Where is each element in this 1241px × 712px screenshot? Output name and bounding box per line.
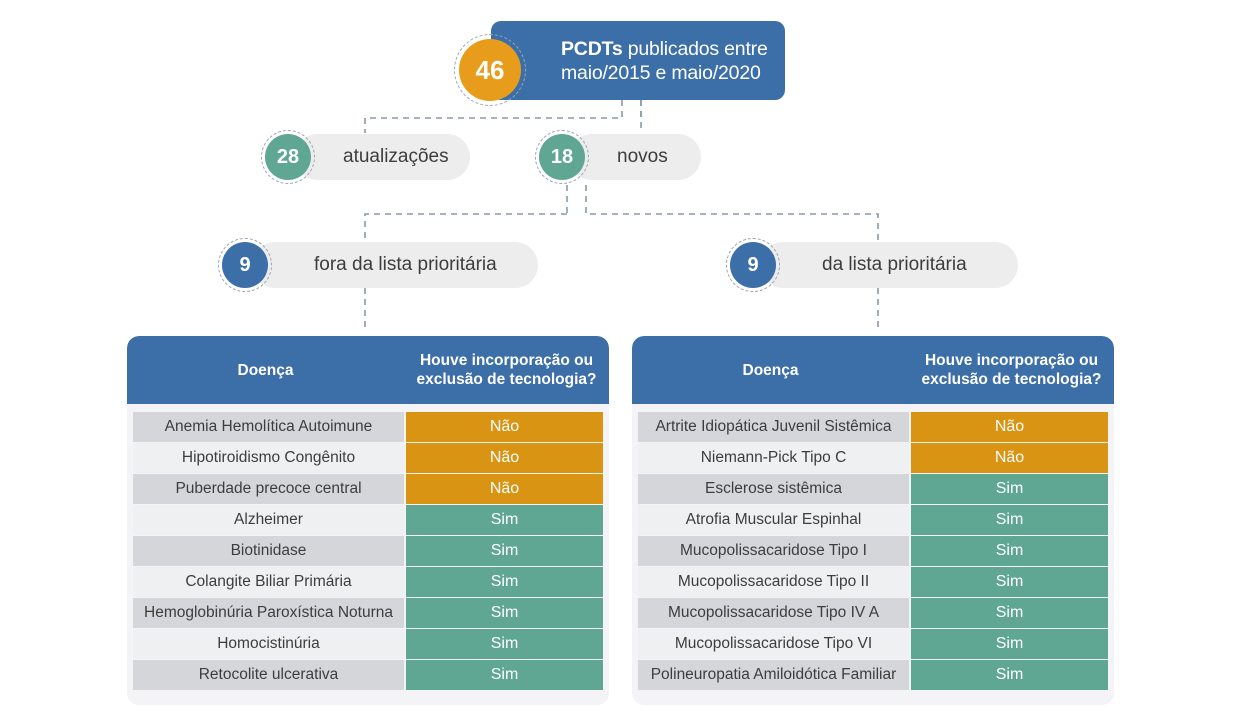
cell-disease: Biotinidase xyxy=(133,536,404,566)
table-right-body: Artrite Idiopática Juvenil SistêmicaNãoN… xyxy=(632,404,1114,690)
cell-disease: Mucopolissacaridose Tipo II xyxy=(638,567,909,597)
node-fora-lista-pill: fora da lista prioritária xyxy=(252,242,538,288)
node-novos-label: novos xyxy=(617,146,668,168)
cell-disease: Colangite Biliar Primária xyxy=(133,567,404,597)
cell-disease: Esclerose sistêmica xyxy=(638,474,909,504)
diagram-canvas: PCDTs publicados entre maio/2015 e maio/… xyxy=(0,0,1241,712)
cell-answer: Sim xyxy=(406,567,603,597)
cell-answer: Sim xyxy=(911,567,1108,597)
table-row: Esclerose sistêmicaSim xyxy=(638,474,1108,504)
cell-answer: Sim xyxy=(911,660,1108,690)
table-row: Retocolite ulcerativaSim xyxy=(133,660,603,690)
cell-answer: Não xyxy=(911,412,1108,442)
node-fora-lista-count: 9 xyxy=(222,242,268,288)
table-row: AlzheimerSim xyxy=(133,505,603,535)
cell-answer: Sim xyxy=(911,505,1108,535)
table-right-header-answer: Houve incorporação ou exclusão de tecnol… xyxy=(909,351,1114,389)
connector-novos-to-fora xyxy=(365,214,567,241)
node-da-lista-label: da lista prioritária xyxy=(822,254,967,276)
cell-answer: Sim xyxy=(406,660,603,690)
table-right-header-row: Doença Houve incorporação ou exclusão de… xyxy=(632,336,1114,404)
table-row: Niemann-Pick Tipo CNão xyxy=(638,443,1108,473)
table-da-lista-prioritaria: Doença Houve incorporação ou exclusão de… xyxy=(632,336,1114,705)
cell-answer: Sim xyxy=(406,505,603,535)
table-row: Hipotiroidismo CongênitoNão xyxy=(133,443,603,473)
table-row: Atrofia Muscular EspinhalSim xyxy=(638,505,1108,535)
root-box: PCDTs publicados entre maio/2015 e maio/… xyxy=(491,21,785,100)
table-row: Colangite Biliar PrimáriaSim xyxy=(133,567,603,597)
cell-answer: Não xyxy=(406,443,603,473)
table-row: Mucopolissacaridose Tipo IISim xyxy=(638,567,1108,597)
table-fora-lista-prioritaria: Doença Houve incorporação ou exclusão de… xyxy=(127,336,609,705)
cell-disease: Homocistinúria xyxy=(133,629,404,659)
cell-answer: Não xyxy=(406,412,603,442)
cell-disease: Niemann-Pick Tipo C xyxy=(638,443,909,473)
node-da-lista-count: 9 xyxy=(730,242,776,288)
cell-answer: Sim xyxy=(911,536,1108,566)
table-row: Puberdade precoce centralNão xyxy=(133,474,603,504)
cell-disease: Hemoglobinúria Paroxística Noturna xyxy=(133,598,404,628)
root-label: PCDTs publicados entre maio/2015 e maio/… xyxy=(561,37,768,85)
cell-disease: Atrofia Muscular Espinhal xyxy=(638,505,909,535)
cell-answer: Não xyxy=(911,443,1108,473)
table-row: Mucopolissacaridose Tipo IV ASim xyxy=(638,598,1108,628)
cell-disease: Mucopolissacaridose Tipo IV A xyxy=(638,598,909,628)
cell-answer: Sim xyxy=(406,536,603,566)
table-row: BiotinidaseSim xyxy=(133,536,603,566)
table-left-header-answer: Houve incorporação ou exclusão de tecnol… xyxy=(404,351,609,389)
table-left-body: Anemia Hemolítica AutoimuneNãoHipotiroid… xyxy=(127,404,609,690)
cell-disease: Puberdade precoce central xyxy=(133,474,404,504)
cell-disease: Retocolite ulcerativa xyxy=(133,660,404,690)
node-atualizacoes-count: 28 xyxy=(265,134,311,180)
cell-disease: Polineuropatia Amiloidótica Familiar xyxy=(638,660,909,690)
cell-disease: Alzheimer xyxy=(133,505,404,535)
root-count-badge: 46 xyxy=(459,39,521,101)
table-row: Mucopolissacaridose Tipo ISim xyxy=(638,536,1108,566)
table-row: Anemia Hemolítica AutoimuneNão xyxy=(133,412,603,442)
node-atualizacoes-label: atualizações xyxy=(343,146,449,168)
table-row: Artrite Idiopática Juvenil SistêmicaNão xyxy=(638,412,1108,442)
cell-answer: Sim xyxy=(911,629,1108,659)
node-atualizacoes-pill: atualizações xyxy=(295,134,470,180)
cell-disease: Mucopolissacaridose Tipo I xyxy=(638,536,909,566)
connector-novos-to-prioritaria xyxy=(586,185,878,241)
cell-answer: Não xyxy=(406,474,603,504)
table-row: Mucopolissacaridose Tipo VISim xyxy=(638,629,1108,659)
table-row: Polineuropatia Amiloidótica FamiliarSim xyxy=(638,660,1108,690)
table-row: Hemoglobinúria Paroxística NoturnaSim xyxy=(133,598,603,628)
cell-disease: Anemia Hemolítica Autoimune xyxy=(133,412,404,442)
table-left-header-row: Doença Houve incorporação ou exclusão de… xyxy=(127,336,609,404)
table-right-header-disease: Doença xyxy=(632,361,909,380)
cell-disease: Mucopolissacaridose Tipo VI xyxy=(638,629,909,659)
node-da-lista-pill: da lista prioritária xyxy=(760,242,1018,288)
table-row: HomocistinúriaSim xyxy=(133,629,603,659)
root-node: PCDTs publicados entre maio/2015 e maio/… xyxy=(459,21,785,100)
cell-answer: Sim xyxy=(911,474,1108,504)
cell-answer: Sim xyxy=(911,598,1108,628)
node-novos-count: 18 xyxy=(539,134,585,180)
cell-disease: Artrite Idiopática Juvenil Sistêmica xyxy=(638,412,909,442)
cell-answer: Sim xyxy=(406,629,603,659)
node-fora-lista-label: fora da lista prioritária xyxy=(314,254,497,276)
root-label-strong: PCDTs xyxy=(561,38,622,60)
table-left-header-disease: Doença xyxy=(127,361,404,380)
cell-disease: Hipotiroidismo Congênito xyxy=(133,443,404,473)
cell-answer: Sim xyxy=(406,598,603,628)
